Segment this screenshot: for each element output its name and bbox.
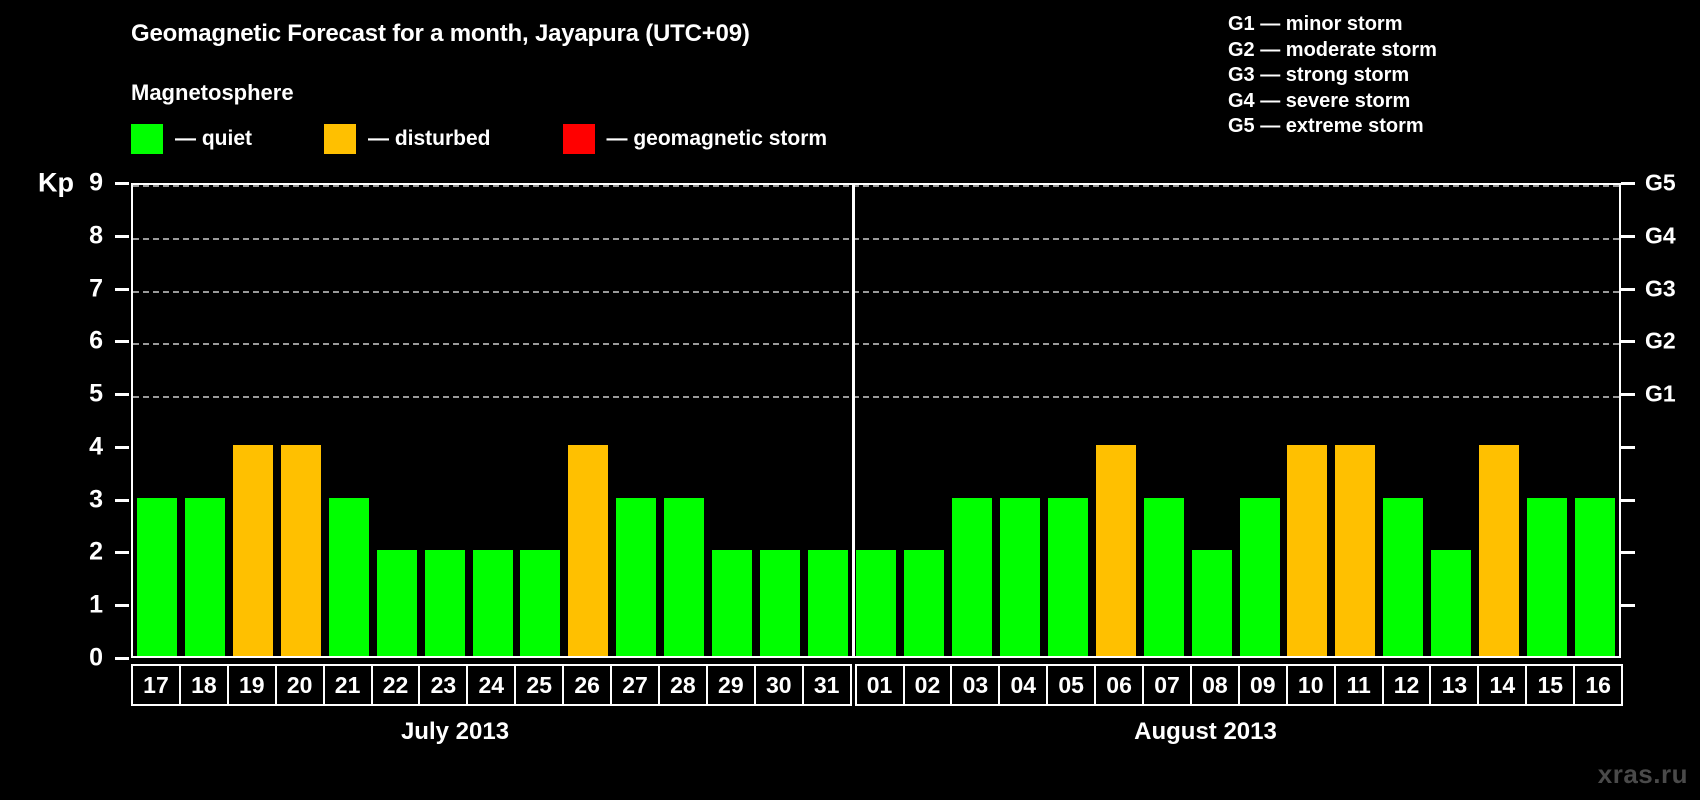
g-tick-label-g3: G3 bbox=[1645, 275, 1676, 302]
bar-slot bbox=[133, 185, 181, 656]
legend-label: — quiet bbox=[175, 127, 252, 151]
date-cell[interactable]: 13 bbox=[1429, 664, 1479, 706]
g-minor-tick-kp-4 bbox=[1621, 446, 1635, 449]
bar[interactable] bbox=[616, 498, 656, 656]
g-tick-label-g2: G2 bbox=[1645, 328, 1676, 355]
date-cell[interactable]: 24 bbox=[466, 664, 516, 706]
legend-item-quiet-key: — quiet bbox=[131, 123, 252, 155]
bar-slot bbox=[181, 185, 229, 656]
date-cell[interactable]: 25 bbox=[514, 664, 564, 706]
bar-slot bbox=[373, 185, 421, 656]
bar-slot bbox=[1140, 185, 1188, 656]
bar[interactable] bbox=[1096, 445, 1136, 656]
y-tick-mark-3 bbox=[115, 499, 129, 502]
bar[interactable] bbox=[1192, 550, 1232, 656]
bar[interactable] bbox=[377, 550, 417, 656]
bar[interactable] bbox=[568, 445, 608, 656]
date-cell[interactable]: 04 bbox=[998, 664, 1048, 706]
bar[interactable] bbox=[425, 550, 465, 656]
bar-slot bbox=[996, 185, 1044, 656]
bar[interactable] bbox=[185, 498, 225, 656]
date-cell[interactable]: 10 bbox=[1286, 664, 1336, 706]
date-cell[interactable]: 26 bbox=[562, 664, 612, 706]
date-cell[interactable]: 01 bbox=[855, 664, 905, 706]
month-caption-july: July 2013 bbox=[131, 718, 779, 746]
y-tick-mark-6 bbox=[115, 340, 129, 343]
y-tick-mark-7 bbox=[115, 288, 129, 291]
y-tick-label-5: 5 bbox=[89, 380, 103, 409]
y-tick-label-4: 4 bbox=[89, 432, 103, 461]
g-tick-label-g1: G1 bbox=[1645, 381, 1676, 408]
date-cell[interactable]: 06 bbox=[1094, 664, 1144, 706]
gscale-key-row-g1: G1 — minor storm bbox=[1228, 12, 1437, 38]
y-axis-title: Kp bbox=[38, 168, 74, 199]
magnetosphere-label: Magnetosphere bbox=[131, 80, 294, 106]
bar[interactable] bbox=[904, 550, 944, 656]
bar[interactable] bbox=[712, 550, 752, 656]
date-axis-row: 1718192021222324252627282930310102030405… bbox=[131, 664, 1621, 706]
watermark: xras.ru bbox=[1598, 759, 1688, 790]
quiet-swatch-icon bbox=[131, 124, 163, 154]
bar[interactable] bbox=[1048, 498, 1088, 656]
date-cell[interactable]: 18 bbox=[179, 664, 229, 706]
bar[interactable] bbox=[137, 498, 177, 656]
bar-slot bbox=[708, 185, 756, 656]
y-axis-left: 9876543210 bbox=[0, 183, 131, 658]
bar-slot bbox=[1284, 185, 1332, 656]
g-tick-mark-g3 bbox=[1621, 288, 1635, 291]
bar-slot bbox=[469, 185, 517, 656]
bar[interactable] bbox=[281, 445, 321, 656]
bar-slot bbox=[948, 185, 996, 656]
bar[interactable] bbox=[952, 498, 992, 656]
bar[interactable] bbox=[856, 550, 896, 656]
date-cell[interactable]: 14 bbox=[1477, 664, 1527, 706]
bar[interactable] bbox=[473, 550, 513, 656]
g-tick-mark-g5 bbox=[1621, 182, 1635, 185]
bar-slot bbox=[325, 185, 373, 656]
date-cell[interactable]: 22 bbox=[371, 664, 421, 706]
date-cell[interactable]: 05 bbox=[1046, 664, 1096, 706]
y-tick-mark-5 bbox=[115, 393, 129, 396]
y-tick-label-6: 6 bbox=[89, 327, 103, 356]
bar-slot bbox=[1427, 185, 1475, 656]
gscale-key-row-g2: G2 — moderate storm bbox=[1228, 38, 1437, 64]
bar[interactable] bbox=[1383, 498, 1423, 656]
bar[interactable] bbox=[1527, 498, 1567, 656]
legend-label: — disturbed bbox=[368, 127, 491, 151]
g-minor-tick-kp-1 bbox=[1621, 604, 1635, 607]
legend-item-geomagnetic-storm-key: — geomagnetic storm bbox=[563, 123, 828, 155]
bar[interactable] bbox=[1000, 498, 1040, 656]
date-cell[interactable]: 30 bbox=[754, 664, 804, 706]
bar-slot bbox=[517, 185, 565, 656]
legend-label: — geomagnetic storm bbox=[607, 127, 828, 151]
g-minor-tick-kp-2 bbox=[1621, 551, 1635, 554]
bar-slot bbox=[612, 185, 660, 656]
date-cell[interactable]: 15 bbox=[1525, 664, 1575, 706]
page-title: Geomagnetic Forecast for a month, Jayapu… bbox=[131, 20, 750, 48]
bar-slot bbox=[1475, 185, 1523, 656]
bar-slot bbox=[852, 185, 900, 656]
date-cell[interactable]: 16 bbox=[1573, 664, 1623, 706]
bar-slot bbox=[1092, 185, 1140, 656]
bar-slot bbox=[1044, 185, 1092, 656]
date-cell[interactable]: 19 bbox=[227, 664, 277, 706]
y-tick-label-1: 1 bbox=[89, 591, 103, 620]
bar[interactable] bbox=[1479, 445, 1519, 656]
gscale-key: G1 — minor stormG2 — moderate stormG3 — … bbox=[1228, 12, 1437, 140]
date-cell[interactable]: 09 bbox=[1238, 664, 1288, 706]
bar-slot bbox=[1331, 185, 1379, 656]
bar[interactable] bbox=[1575, 498, 1615, 656]
gscale-key-row-g3: G3 — strong storm bbox=[1228, 63, 1437, 89]
color-legend: — quiet— disturbed— geomagnetic storm bbox=[131, 123, 827, 155]
y-tick-mark-9 bbox=[115, 182, 129, 185]
g-minor-tick-kp-3 bbox=[1621, 499, 1635, 502]
date-cell[interactable]: 12 bbox=[1382, 664, 1432, 706]
date-cell[interactable]: 21 bbox=[323, 664, 373, 706]
y-tick-label-2: 2 bbox=[89, 538, 103, 567]
g-tick-mark-g2 bbox=[1621, 340, 1635, 343]
date-cell[interactable]: 23 bbox=[418, 664, 468, 706]
date-cell[interactable]: 07 bbox=[1142, 664, 1192, 706]
bar-slot bbox=[804, 185, 852, 656]
y-tick-mark-4 bbox=[115, 446, 129, 449]
gscale-key-row-g5: G5 — extreme storm bbox=[1228, 114, 1437, 140]
y-tick-label-9: 9 bbox=[89, 169, 103, 198]
bar-slot bbox=[660, 185, 708, 656]
bar-slot bbox=[421, 185, 469, 656]
date-cell[interactable]: 20 bbox=[275, 664, 325, 706]
g-tick-label-g4: G4 bbox=[1645, 222, 1676, 249]
bar-slot bbox=[900, 185, 948, 656]
bar-slot bbox=[1523, 185, 1571, 656]
geomagnetic-storm-swatch-icon bbox=[563, 124, 595, 154]
y-tick-mark-8 bbox=[115, 235, 129, 238]
date-cell[interactable]: 27 bbox=[610, 664, 660, 706]
bar[interactable] bbox=[1335, 445, 1375, 656]
disturbed-swatch-icon bbox=[324, 124, 356, 154]
date-cell[interactable]: 08 bbox=[1190, 664, 1240, 706]
y-tick-mark-0 bbox=[115, 657, 129, 660]
date-cell[interactable]: 02 bbox=[903, 664, 953, 706]
bar-slot bbox=[229, 185, 277, 656]
date-cell[interactable]: 17 bbox=[131, 664, 181, 706]
bar-slot bbox=[1188, 185, 1236, 656]
y-tick-label-7: 7 bbox=[89, 274, 103, 303]
y-axis-right-gscale: G5G4G3G2G1 bbox=[1621, 183, 1700, 658]
bar[interactable] bbox=[1431, 550, 1471, 656]
bar[interactable] bbox=[1144, 498, 1184, 656]
y-tick-mark-2 bbox=[115, 551, 129, 554]
g-tick-label-g5: G5 bbox=[1645, 170, 1676, 197]
date-cell[interactable]: 11 bbox=[1334, 664, 1384, 706]
date-cell[interactable]: 31 bbox=[802, 664, 852, 706]
g-tick-mark-g4 bbox=[1621, 235, 1635, 238]
bar-slot bbox=[1571, 185, 1619, 656]
bar[interactable] bbox=[760, 550, 800, 656]
bar[interactable] bbox=[808, 550, 848, 656]
bar-slot bbox=[756, 185, 804, 656]
date-cell[interactable]: 28 bbox=[658, 664, 708, 706]
month-caption-august: August 2013 bbox=[790, 718, 1621, 746]
y-tick-label-0: 0 bbox=[89, 644, 103, 673]
bar[interactable] bbox=[329, 498, 369, 656]
bar[interactable] bbox=[520, 550, 560, 656]
y-tick-label-3: 3 bbox=[89, 485, 103, 514]
bar-slot bbox=[1379, 185, 1427, 656]
y-tick-label-8: 8 bbox=[89, 221, 103, 250]
date-cell[interactable]: 03 bbox=[950, 664, 1000, 706]
bar-slot bbox=[564, 185, 612, 656]
bar[interactable] bbox=[664, 498, 704, 656]
bar[interactable] bbox=[1287, 445, 1327, 656]
legend-item-disturbed-key: — disturbed bbox=[324, 123, 491, 155]
bar-slot bbox=[277, 185, 325, 656]
bar[interactable] bbox=[233, 445, 273, 656]
bars-layer bbox=[133, 185, 1619, 656]
y-tick-mark-1 bbox=[115, 604, 129, 607]
plot-area bbox=[131, 183, 1621, 658]
bar-slot bbox=[1236, 185, 1284, 656]
bar[interactable] bbox=[1240, 498, 1280, 656]
month-divider bbox=[852, 185, 855, 656]
date-cell[interactable]: 29 bbox=[706, 664, 756, 706]
g-tick-mark-g1 bbox=[1621, 393, 1635, 396]
gscale-key-row-g4: G4 — severe storm bbox=[1228, 89, 1437, 115]
